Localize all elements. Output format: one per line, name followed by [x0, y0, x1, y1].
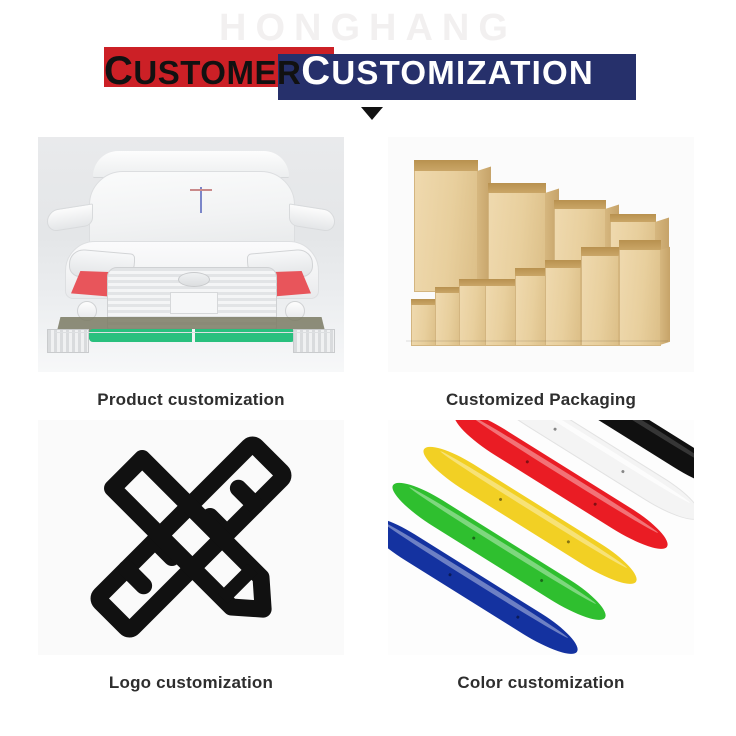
title-customer-rest: USTOMER — [133, 54, 301, 91]
box-front-5 — [515, 275, 547, 346]
panel-caption: Logo customization — [38, 655, 344, 693]
page-header: HONGHANG CUSTOMERCUSTOMIZATION — [0, 0, 736, 128]
box-shadow — [406, 340, 668, 342]
pencil-ruler-svg — [71, 426, 311, 648]
customer-customization-page: HONGHANG CUSTOMERCUSTOMIZATION — [0, 0, 736, 736]
triangle-down-icon — [361, 107, 383, 120]
title-word-customization: CUSTOMIZATION — [301, 54, 594, 91]
car-emblem — [178, 272, 210, 287]
panel-customized-packaging[interactable]: Customized Packaging — [388, 137, 694, 410]
page-title: CUSTOMERCUSTOMIZATION — [104, 47, 644, 95]
colored-trim-strips-photo — [388, 420, 694, 655]
cad-axis-indicator-icon — [188, 185, 214, 215]
box-front-6 — [545, 267, 581, 346]
panel-grid: Product customization — [0, 128, 736, 736]
panel-caption: Product customization — [38, 372, 344, 410]
customized-packaging-image[interactable] — [388, 137, 694, 372]
product-customization-image[interactable] — [38, 137, 344, 372]
box-front-3 — [459, 285, 487, 346]
car-license-plate — [170, 292, 218, 314]
panel-logo-customization[interactable]: Logo customization — [38, 420, 344, 693]
box-front-8 — [619, 249, 661, 346]
panel-caption: Color customization — [388, 655, 694, 693]
box-front-4 — [485, 285, 517, 346]
title-customization-rest: USTOMIZATION — [331, 54, 594, 91]
panel-caption: Customized Packaging — [388, 372, 694, 410]
panel-product-customization[interactable]: Product customization — [38, 137, 344, 410]
title-customization-capital: C — [301, 49, 331, 93]
cardboard-boxes-photo — [388, 137, 694, 372]
car-body — [45, 149, 337, 345]
box-back-1 — [414, 170, 478, 292]
box-front-2 — [435, 292, 461, 346]
watermark-text: HONGHANG — [0, 7, 736, 49]
color-customization-image[interactable] — [388, 420, 694, 655]
car-green-trim-strip — [89, 329, 295, 342]
car-ground-line — [55, 332, 331, 333]
car-mirror-left — [47, 203, 93, 232]
title-customer-capital: C — [104, 49, 133, 93]
car-mirror-right — [289, 203, 335, 232]
car-front-cad-render — [38, 137, 344, 372]
box-front-7 — [581, 255, 619, 346]
logo-customization-image[interactable] — [38, 420, 344, 655]
title-word-customer: CUSTOMER — [104, 54, 301, 91]
panel-color-customization[interactable]: Color customization — [388, 420, 694, 693]
pencil-ruler-icon — [38, 420, 344, 655]
